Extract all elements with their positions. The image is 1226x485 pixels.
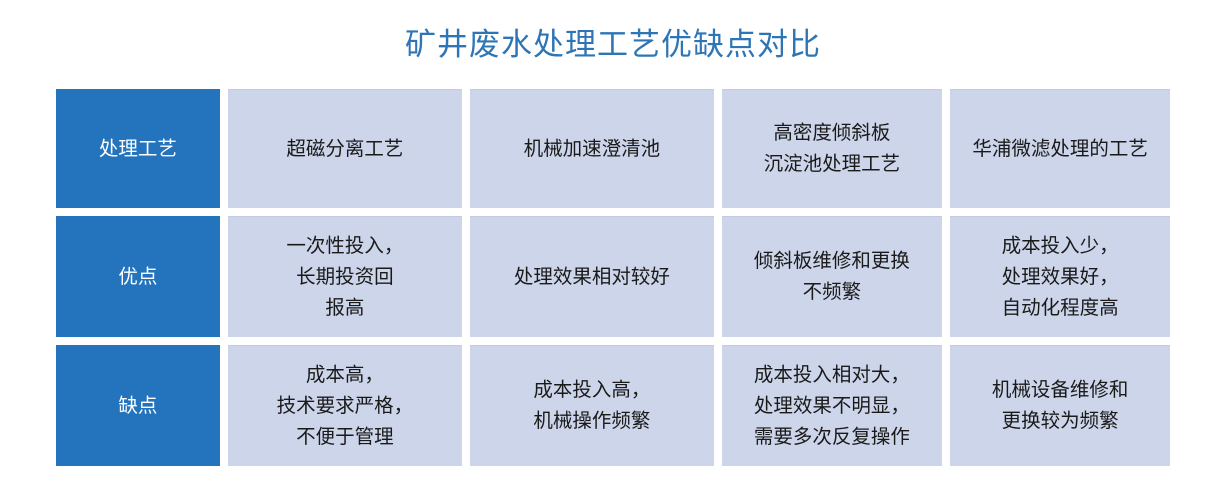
table-header-row: 处理工艺 超磁分离工艺 机械加速澄清池 高密度倾斜板 沉淀池处理工艺 华浦微滤处…	[56, 89, 1170, 208]
table-cell-advantages-1: 一次性投入， 长期投资回 报高	[228, 216, 463, 337]
table-cell-advantages-2: 处理效果相对较好	[470, 216, 713, 337]
table-header-cell-3: 高密度倾斜板 沉淀池处理工艺	[722, 89, 943, 208]
table-header-cell-1: 超磁分离工艺	[228, 89, 463, 208]
table-cell-disadvantages-1: 成本高， 技术要求严格， 不便于管理	[228, 345, 463, 466]
table-row-advantages: 优点 一次性投入， 长期投资回 报高 处理效果相对较好 倾斜板维修和更换 不频繁…	[56, 216, 1170, 337]
table-cell-advantages-4: 成本投入少， 处理效果好， 自动化程度高	[950, 216, 1170, 337]
slide-canvas: 矿井废水处理工艺优缺点对比 处理工艺 超磁分离工艺 机械加速澄清池 高密度倾斜板…	[0, 0, 1226, 485]
table-cell-disadvantages-3: 成本投入相对大， 处理效果不明显， 需要多次反复操作	[722, 345, 943, 466]
table-row-disadvantages: 缺点 成本高， 技术要求严格， 不便于管理 成本投入高， 机械操作频繁 成本投入…	[56, 345, 1170, 466]
page-title: 矿井废水处理工艺优缺点对比	[0, 25, 1226, 65]
table-cell-advantages-3: 倾斜板维修和更换 不频繁	[722, 216, 943, 337]
row-label-advantages: 优点	[56, 216, 220, 337]
table-header-cell-process: 处理工艺	[56, 89, 220, 208]
comparison-table: 处理工艺 超磁分离工艺 机械加速澄清池 高密度倾斜板 沉淀池处理工艺 华浦微滤处…	[56, 89, 1170, 466]
table-cell-disadvantages-4: 机械设备维修和 更换较为频繁	[950, 345, 1170, 466]
table-header-cell-2: 机械加速澄清池	[470, 89, 713, 208]
table-cell-disadvantages-2: 成本投入高， 机械操作频繁	[470, 345, 713, 466]
table-header-cell-4: 华浦微滤处理的工艺	[950, 89, 1170, 208]
row-label-disadvantages: 缺点	[56, 345, 220, 466]
